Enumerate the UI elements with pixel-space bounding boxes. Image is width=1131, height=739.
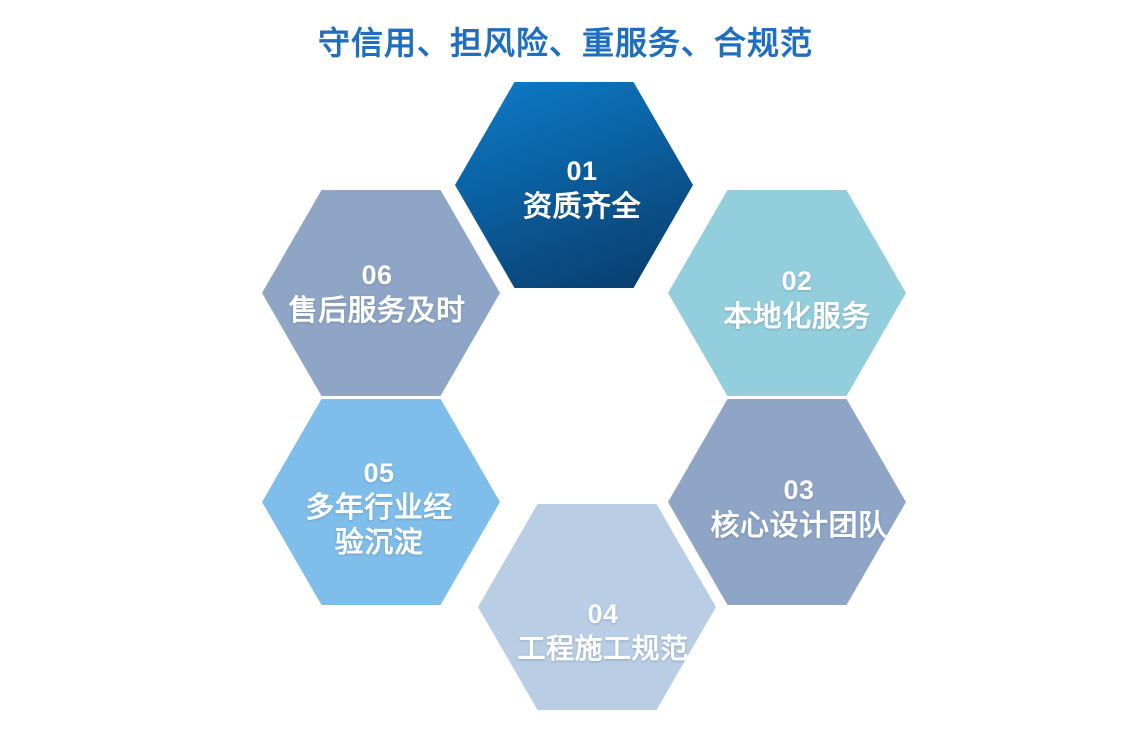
hexagon-number-06: 06: [288, 261, 465, 289]
hexagon-text-block-03: 03 核心设计团队: [710, 476, 887, 543]
hexagon-number-02: 02: [723, 267, 871, 295]
hexagon-caption-05: 多年行业经 验沉淀: [305, 491, 453, 561]
hexagon-caption-01: 资质齐全: [523, 190, 641, 225]
hexagon-caption-04: 工程施工规范: [517, 632, 688, 666]
hexagon-number-05: 05: [305, 459, 453, 487]
hexagon-number-01: 01: [523, 157, 641, 185]
hexagon-diagram: 01 资质齐全 02 本地化服务 03 核心设计团队 04 工程施工规范: [0, 0, 1131, 739]
hexagon-text-block-02: 02 本地化服务: [723, 267, 871, 334]
hexagon-item-04[interactable]: 04 工程施工规范: [478, 504, 716, 710]
hexagon-caption-06: 售后服务及时: [288, 294, 465, 329]
hexagon-item-01[interactable]: 01 资质齐全: [455, 82, 693, 288]
hexagon-item-02[interactable]: 02 本地化服务: [668, 190, 906, 396]
hexagon-number-04: 04: [517, 600, 688, 628]
hexagon-text-block-06: 06 售后服务及时: [288, 261, 465, 328]
hexagon-item-06[interactable]: 06 售后服务及时: [262, 190, 500, 396]
hexagon-text-block-01: 01 资质齐全: [523, 157, 641, 224]
hexagon-caption-03: 核心设计团队: [710, 509, 887, 544]
hexagon-text-block-04: 04 工程施工规范: [517, 600, 688, 666]
hexagon-item-05[interactable]: 05 多年行业经 验沉淀: [262, 399, 500, 605]
slide-canvas: 守信用、担风险、重服务、合规范 01 资质齐全 02 本地化服务 03 核心设计…: [0, 0, 1131, 739]
hexagon-number-03: 03: [710, 476, 887, 504]
hexagon-item-03[interactable]: 03 核心设计团队: [668, 399, 906, 605]
hexagon-text-block-05: 05 多年行业经 验沉淀: [305, 459, 453, 561]
hexagon-caption-02: 本地化服务: [723, 300, 871, 335]
